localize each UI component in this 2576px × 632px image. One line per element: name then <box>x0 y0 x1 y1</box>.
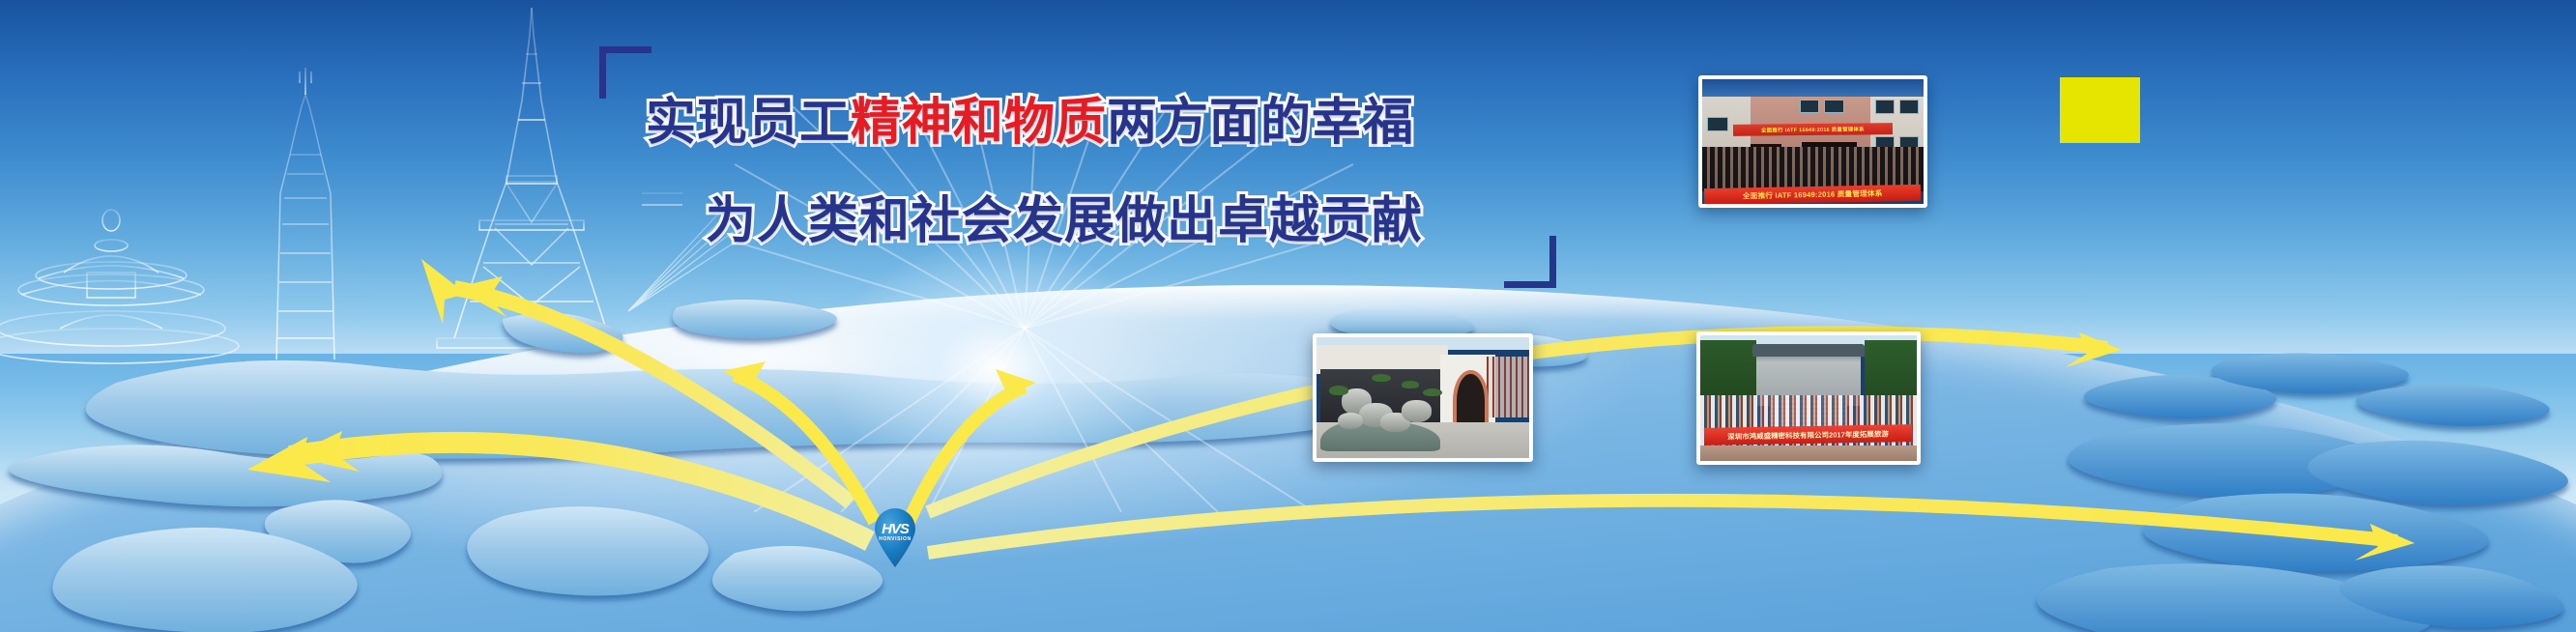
iatf-certification-group-photo[interactable]: 全面推行 IATF 16949:2016 质量管理体系 全面推行 IATF 16… <box>1698 75 1927 208</box>
arch-doorway <box>1457 374 1485 427</box>
logo-mark-text: HVS <box>870 522 920 536</box>
tour-banner-text: 深圳市鸿威盛精密科技有限公司2017年度拓展旅游 <box>1704 424 1912 445</box>
world-globe <box>0 278 2576 632</box>
yellow-accent-block <box>2060 77 2140 143</box>
slogan-line-2: 为人类和社会发展做出卓越贡献 <box>706 180 1423 252</box>
bracket-bottom-right-icon <box>1504 236 1556 288</box>
slogan-line-1: 实现员工精神和物质两方面的幸福 <box>646 81 1414 154</box>
bracket-top-left-icon <box>599 46 651 99</box>
factory-garden-courtyard-photo[interactable] <box>1313 333 1533 462</box>
honvision-map-pin-logo[interactable]: HVS HONVISION <box>870 506 920 568</box>
company-outing-group-photo[interactable]: 深圳市鸿威盛精密科技有限公司2017年度拓展旅游 <box>1696 331 1921 465</box>
continents-map <box>0 278 2576 632</box>
logo-text-group: HVS HONVISION <box>870 522 920 542</box>
iatf-banner-top-text: 全面推行 IATF 16949:2016 质量管理体系 <box>1733 124 1893 136</box>
company-culture-banner: 实现员工精神和物质两方面的幸福 为人类和社会发展做出卓越贡献 全面推行 IATF… <box>0 0 2576 632</box>
iatf-banner-bottom-text: 全面推行 IATF 16949:2016 质量管理体系 <box>1704 185 1922 204</box>
slogan-line-2-part-1: 为人类和社会发展做出卓越贡献 <box>706 192 1423 250</box>
logo-wordmark-text: HONVISION <box>870 537 920 542</box>
slogan-line-1-part-2: 精神和物质 <box>851 94 1107 152</box>
slogan-block: 实现员工精神和物质两方面的幸福 为人类和社会发展做出卓越贡献 <box>599 46 1556 288</box>
slogan-line-1-part-1: 实现员工 <box>646 94 851 152</box>
slogan-line-1-part-3: 两方面的幸福 <box>1107 94 1414 152</box>
